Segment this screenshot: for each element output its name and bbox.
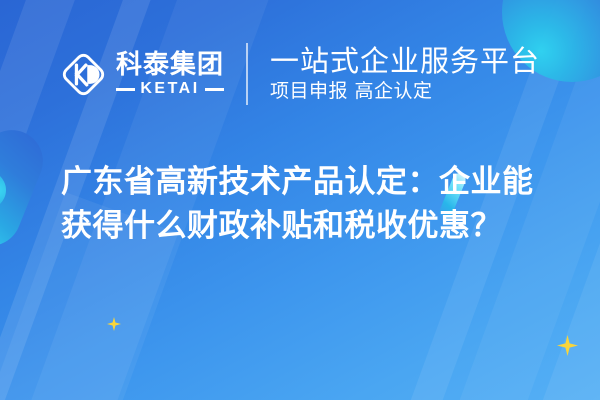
sparkle-small-left-icon — [107, 317, 121, 331]
brand-logo[interactable]: 科泰集团 KETAI — [60, 51, 224, 98]
header-divider — [246, 43, 248, 105]
tagline-main-text: 一站式企业服务平台 — [270, 45, 540, 77]
wordmark-rule-left — [116, 88, 135, 91]
brand-name-en-row: KETAI — [116, 81, 224, 97]
page-title: 广东省高新技术产品认定：企业能 获得什么财政补贴和税收优惠？ — [61, 160, 551, 248]
wordmark-rule-right — [205, 88, 224, 91]
brand-name-cn: 科泰集团 — [116, 51, 224, 78]
banner-header: 科泰集团 KETAI 一站式企业服务平台 项目申报 高企认定 — [0, 0, 600, 148]
ketai-diamond-kd-monogram-icon — [60, 51, 107, 98]
capsule-glow-decoration — [0, 168, 6, 212]
tagline-sub-text: 项目申报 高企认定 — [270, 81, 540, 103]
headline-line-2: 获得什么财政补贴和税收优惠？ — [61, 204, 551, 248]
headline-line-1: 广东省高新技术产品认定：企业能 — [61, 160, 551, 204]
brand-wordmark: 科泰集团 KETAI — [116, 51, 224, 97]
brand-name-en: KETAI — [140, 81, 199, 97]
sparkle-large-right-icon — [557, 335, 578, 356]
header-tagline: 一站式企业服务平台 项目申报 高企认定 — [270, 45, 540, 103]
promo-banner: 科泰集团 KETAI 一站式企业服务平台 项目申报 高企认定 广东省高新技术产品… — [0, 0, 600, 400]
